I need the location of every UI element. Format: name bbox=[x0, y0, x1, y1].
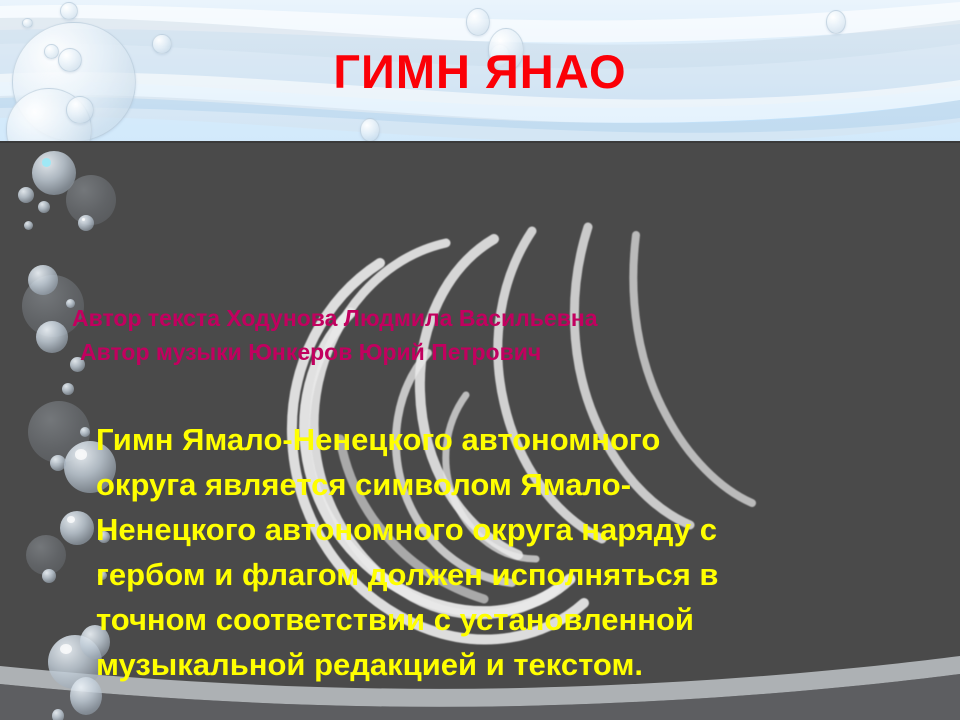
bubble-body-small-f bbox=[42, 569, 56, 583]
bubble-body-mid-a bbox=[28, 265, 58, 295]
description-line-6: музыкальной редакцией и текстом. bbox=[96, 642, 886, 687]
bubble-body-tiny-c bbox=[62, 383, 74, 395]
author-text-line: Автор текста Ходунова Людмила Васильевна bbox=[72, 301, 902, 335]
bubble-center-top bbox=[466, 8, 490, 36]
bubble-body-tiny-g bbox=[52, 709, 64, 720]
bubble-tiny-left-edge bbox=[22, 18, 33, 28]
bubble-small-left-overlap bbox=[66, 96, 94, 124]
description-line-1: Гимн Ямало-Ненецкого автономного bbox=[96, 417, 886, 462]
bubble-body-small-e bbox=[50, 455, 66, 471]
presentation-slide: ГИМН ЯНАО bbox=[0, 0, 960, 720]
bubble-body-tiny-a bbox=[24, 221, 33, 230]
bubble-body-small-c bbox=[78, 215, 94, 231]
slide-body: Автор текста Ходунова Людмила Васильевна… bbox=[0, 143, 960, 720]
description-line-3: Ненецкого автономного округа наряду с bbox=[96, 507, 886, 552]
bubble-body-tiny-d bbox=[80, 427, 90, 437]
description-line-4: гербом и флагом должен исполняться в bbox=[96, 552, 886, 597]
bubble-body-mid-c bbox=[60, 511, 94, 545]
authors-block: Автор текста Ходунова Людмила Васильевна… bbox=[72, 301, 902, 369]
bubble-body-small-a bbox=[18, 187, 34, 203]
description-line-2: округа является символом Ямало- bbox=[96, 462, 886, 507]
bubble-top-small bbox=[60, 2, 78, 20]
slide-title: ГИМН ЯНАО bbox=[0, 48, 960, 95]
bubble-body-small-b bbox=[38, 201, 50, 213]
bubble-right-top bbox=[826, 10, 846, 34]
bubble-body-mid-b bbox=[36, 321, 68, 353]
slide-header: ГИМН ЯНАО bbox=[0, 0, 960, 143]
anthem-description-block: Гимн Ямало-Ненецкого автономного округа … bbox=[96, 417, 886, 687]
bubble-bottom-center bbox=[360, 118, 380, 142]
author-music-line: Автор музыки Юнкеров Юрий Петрович bbox=[72, 335, 902, 369]
description-line-5: точном соответствии с установленной bbox=[96, 597, 886, 642]
